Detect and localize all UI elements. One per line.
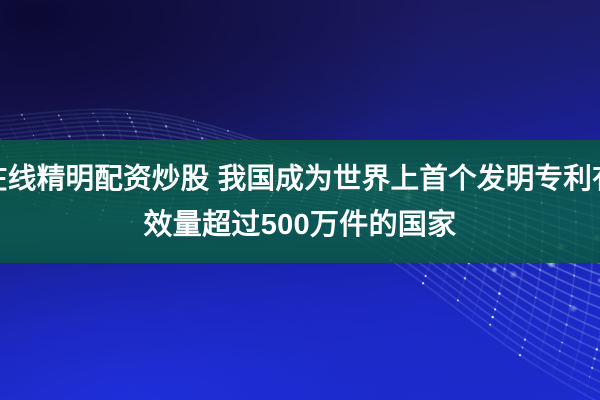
headline-block: 在线精明配资炒股 我国成为世界上首个发明专利有 效量超过500万件的国家: [0, 140, 600, 263]
banner-image: 在线精明配资炒股 我国成为世界上首个发明专利有 效量超过500万件的国家: [0, 0, 600, 400]
headline-line-2: 效量超过500万件的国家: [144, 205, 457, 245]
headline-line-1: 在线精明配资炒股 我国成为世界上首个发明专利有: [0, 159, 600, 199]
